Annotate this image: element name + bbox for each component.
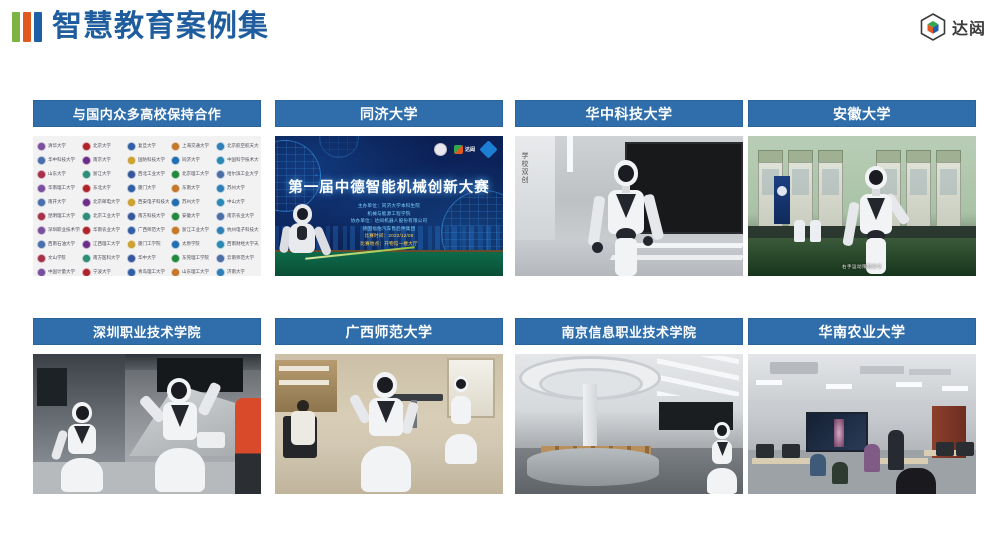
university-logo-item: 同济大学 bbox=[169, 153, 214, 167]
case-card-title: 华南农业大学 bbox=[748, 318, 976, 345]
large-display-screen bbox=[806, 412, 868, 452]
university-name: 苏州大学 bbox=[182, 196, 200, 207]
case-card-media: 学校双创 bbox=[515, 136, 743, 276]
atrium-with-robot-photo bbox=[515, 354, 743, 494]
ceiling-light bbox=[567, 136, 573, 172]
university-seal-icon bbox=[82, 254, 91, 263]
computer-monitor bbox=[936, 442, 954, 456]
university-name: 北京航空航天大学 bbox=[227, 140, 259, 151]
university-name: 江西理工大学 bbox=[93, 238, 120, 249]
university-logo-item: 南方医科大学 bbox=[80, 251, 125, 265]
university-name: 北京工业大学 bbox=[93, 210, 120, 221]
university-seal-icon bbox=[37, 170, 46, 179]
robot-in-corridor-photo: 学校双创 bbox=[515, 136, 743, 276]
computer-monitor bbox=[756, 444, 774, 458]
university-logo-item: 北京理工大学 bbox=[169, 167, 214, 181]
university-seal-icon bbox=[171, 170, 180, 179]
poster-detail-line: 德国福佑汽车售后件集团 bbox=[275, 225, 503, 233]
competition-poster: 达闼 第一届中德智能机械创新大赛 主办单位：同济大学本科生院机械与能源工程学院协… bbox=[275, 136, 503, 276]
university-name: 上海交通大学 bbox=[182, 140, 209, 151]
university-name: 广西师范大学 bbox=[138, 224, 165, 235]
ceiling-lights bbox=[657, 356, 739, 396]
university-name: 北京邮电大学 bbox=[93, 196, 120, 207]
university-logo-item: 西南财经大学天府学院 bbox=[214, 237, 259, 251]
university-seal-icon bbox=[37, 226, 46, 235]
university-logo-item: 山东理工大学 bbox=[169, 265, 214, 276]
university-name: 安徽大学 bbox=[182, 210, 200, 221]
university-name: 太原学院 bbox=[182, 238, 200, 249]
university-seal-icon bbox=[127, 184, 136, 193]
university-name: 哈尔滨工业大学 bbox=[227, 168, 258, 179]
university-name: 南京大学 bbox=[93, 154, 111, 165]
poster-detail-line: 主办单位：同济大学本科生院 bbox=[275, 202, 503, 210]
university-seal-icon bbox=[127, 268, 136, 277]
university-name: 华南农业大学 bbox=[93, 224, 120, 235]
university-seal-icon bbox=[37, 142, 46, 151]
university-seal-icon bbox=[216, 226, 225, 235]
case-card-title: 华中科技大学 bbox=[515, 100, 743, 127]
university-logo-item: 文山学院 bbox=[35, 251, 80, 265]
university-logo-item: 厦门工学院 bbox=[125, 237, 170, 251]
humanoid-robot-back bbox=[441, 374, 481, 474]
university-name: 西南石油大学 bbox=[48, 238, 75, 249]
university-name: 南方科技大学 bbox=[138, 210, 165, 221]
standing-person bbox=[888, 430, 904, 470]
seated-student bbox=[291, 400, 315, 446]
university-logo-item: 浙江工业大学 bbox=[169, 223, 214, 237]
case-card-media bbox=[748, 354, 976, 494]
university-logo-item: 杭州电子科技大学 bbox=[214, 223, 259, 237]
university-seal-icon bbox=[127, 142, 136, 151]
university-seal-icon bbox=[216, 184, 225, 193]
university-seal-icon bbox=[82, 156, 91, 165]
university-seal-icon bbox=[82, 212, 91, 221]
page-header: 智慧教育案例集 达闼 bbox=[0, 0, 1000, 55]
university-logo-item: 宁波大学 bbox=[80, 265, 125, 276]
university-logo-item: 苏州大学 bbox=[214, 181, 259, 195]
university-logo-item: 中国计量大学 bbox=[35, 265, 80, 276]
university-seal-icon bbox=[37, 184, 46, 193]
case-card-media: 达闼 第一届中德智能机械创新大赛 主办单位：同济大学本科生院机械与能源工程学院协… bbox=[275, 136, 503, 276]
university-seal-icon bbox=[127, 198, 136, 207]
lab-cabinet bbox=[936, 162, 961, 236]
university-logo-item: 南京农业大学 bbox=[214, 209, 259, 223]
university-seal-icon bbox=[82, 240, 91, 249]
university-logo-item: 国防科技大学 bbox=[125, 153, 170, 167]
wall-signage-text: 学校双创 bbox=[519, 152, 529, 184]
poster-sponsor-logos: 达闼 bbox=[434, 143, 495, 156]
university-logo-item: 华南理工大学 bbox=[35, 181, 80, 195]
university-logo-item: 西安电子科技大学 bbox=[125, 195, 170, 209]
humanoid-robot bbox=[705, 420, 739, 494]
university-logo-item: 青岛理工大学 bbox=[125, 265, 170, 276]
university-logo-item: 中山大学 bbox=[214, 195, 259, 209]
university-logo-item: 北京邮电大学 bbox=[80, 195, 125, 209]
university-seal-icon bbox=[171, 184, 180, 193]
university-logo-item: 清华大学 bbox=[35, 139, 80, 153]
university-seal-icon bbox=[127, 156, 136, 165]
university-name: 华中大学 bbox=[138, 252, 156, 263]
globe-graphic-icon bbox=[319, 136, 359, 158]
computer-monitor bbox=[956, 442, 974, 456]
poster-title: 第一届中德智能机械创新大赛 bbox=[275, 176, 503, 197]
university-logo-item: 苏州大学 bbox=[169, 195, 214, 209]
ceiling bbox=[748, 354, 976, 400]
university-name: 深圳职业技术学院 bbox=[48, 224, 80, 235]
university-name: 昆明理工大学 bbox=[48, 210, 75, 221]
page-title: 智慧教育案例集 bbox=[52, 7, 269, 47]
university-seal-icon bbox=[171, 142, 180, 151]
university-name: 同济大学 bbox=[182, 154, 200, 165]
university-name: 厦门大学 bbox=[138, 182, 156, 193]
case-card-media bbox=[515, 354, 743, 494]
university-logo-item: 昆明理工大学 bbox=[35, 209, 80, 223]
university-logo-item: 华中大学 bbox=[125, 251, 170, 265]
university-name: 宁波大学 bbox=[93, 266, 111, 276]
university-name: 清华大学 bbox=[48, 140, 66, 151]
university-logo-item: 广西师范大学 bbox=[125, 223, 170, 237]
university-seal-icon bbox=[216, 142, 225, 151]
case-card-tongji[interactable]: 同济大学 达闼 第一届中德智能机械创新大赛 主办单位 bbox=[275, 100, 503, 312]
university-name: 西北工业大学 bbox=[138, 168, 165, 179]
poster-detail-line: 机械与能源工程学院 bbox=[275, 210, 503, 218]
case-card-title: 同济大学 bbox=[275, 100, 503, 127]
university-logo-item: 浙江大学 bbox=[80, 167, 125, 181]
lab-cabinet bbox=[906, 162, 931, 236]
university-name: 云南师范大学 bbox=[227, 252, 254, 263]
university-logo-grid: 清华大学北京大学复旦大学上海交通大学北京航空航天大学华中科技大学南京大学国防科技… bbox=[33, 136, 261, 276]
student bbox=[864, 444, 880, 472]
case-card-partners[interactable]: 与国内众多高校保持合作 清华大学北京大学复旦大学上海交通大学北京航空航天大学华中… bbox=[33, 100, 261, 312]
university-seal-icon bbox=[37, 198, 46, 207]
university-name: 南方医科大学 bbox=[93, 252, 120, 263]
university-seal-icon bbox=[127, 170, 136, 179]
university-name: 东北大学 bbox=[93, 182, 111, 193]
university-name: 中国科学技术大学 bbox=[227, 154, 259, 165]
university-logo-item: 深圳职业技术学院 bbox=[35, 223, 80, 237]
person-in-red-shirt bbox=[235, 398, 261, 494]
university-name: 南开大学 bbox=[48, 196, 66, 207]
university-seal-icon bbox=[37, 240, 46, 249]
video-caption: 右手运动限制命令 bbox=[748, 264, 976, 270]
university-name: 西南财经大学天府学院 bbox=[227, 238, 259, 249]
university-logo-item: 南开大学 bbox=[35, 195, 80, 209]
university-logo-item: 北京航空航天大学 bbox=[214, 139, 259, 153]
university-logo-item: 西北工业大学 bbox=[125, 167, 170, 181]
university-seal-icon bbox=[171, 226, 180, 235]
university-name: 东南大学 bbox=[182, 182, 200, 193]
university-name: 中山大学 bbox=[227, 196, 245, 207]
university-seal-icon bbox=[127, 212, 136, 221]
university-seal-icon bbox=[127, 226, 136, 235]
university-logo-item: 太原学院 bbox=[169, 237, 214, 251]
university-logo-item: 华中科技大学 bbox=[35, 153, 80, 167]
university-logo-item: 中国科学技术大学 bbox=[214, 153, 259, 167]
university-name: 杭州电子科技大学 bbox=[227, 224, 259, 235]
brand-logo: 达闼 bbox=[920, 11, 986, 43]
university-name: 浙江大学 bbox=[93, 168, 111, 179]
university-seal-icon bbox=[37, 254, 46, 263]
university-seal-icon bbox=[216, 198, 225, 207]
university-name: 南京农业大学 bbox=[227, 210, 254, 221]
robot-in-lab-photo: 右手运动限制命令 bbox=[748, 136, 976, 276]
university-seal-icon bbox=[37, 268, 46, 277]
wall-poster bbox=[774, 176, 790, 224]
university-seal-icon bbox=[82, 184, 91, 193]
humanoid-robot-left bbox=[53, 400, 111, 492]
university-logo-item: 南京大学 bbox=[80, 153, 125, 167]
university-logo-item: 东莞理工学院 bbox=[169, 251, 214, 265]
university-name: 山东大学 bbox=[48, 168, 66, 179]
air-vent bbox=[770, 362, 818, 374]
university-seal-icon bbox=[127, 240, 136, 249]
university-seal-icon bbox=[171, 198, 180, 207]
university-seal-icon bbox=[216, 254, 225, 263]
university-seal-icon bbox=[216, 212, 225, 221]
university-logo-item: 云南师范大学 bbox=[214, 251, 259, 265]
university-logo-item: 安徽大学 bbox=[169, 209, 214, 223]
university-name: 苏州大学 bbox=[227, 182, 245, 193]
university-name: 济南大学 bbox=[227, 266, 245, 276]
university-name: 华中科技大学 bbox=[48, 154, 75, 165]
poster-detail-line: 比赛时间：2022/12/09 bbox=[275, 232, 503, 240]
university-name: 西安电子科技大学 bbox=[138, 196, 170, 207]
case-card-media: 清华大学北京大学复旦大学上海交通大学北京航空航天大学华中科技大学南京大学国防科技… bbox=[33, 136, 261, 276]
cloudminds-logo-icon: 达闼 bbox=[454, 145, 475, 154]
university-seal-icon bbox=[434, 143, 447, 156]
university-name: 中国计量大学 bbox=[48, 266, 75, 276]
humanoid-robot bbox=[591, 152, 661, 276]
ceiling-light-panel bbox=[756, 380, 782, 385]
university-logo-item: 厦门大学 bbox=[125, 181, 170, 195]
small-robot-toy bbox=[794, 220, 805, 242]
university-seal-icon bbox=[216, 240, 225, 249]
university-name: 东莞理工学院 bbox=[182, 252, 209, 263]
university-logo-item: 山东大学 bbox=[35, 167, 80, 181]
case-card-gxnu[interactable]: 广西师范大学 bbox=[275, 318, 503, 530]
university-logo-item: 江西理工大学 bbox=[80, 237, 125, 251]
university-name: 青岛理工大学 bbox=[138, 266, 165, 276]
university-seal-icon bbox=[127, 254, 136, 263]
robots-lab-with-student-photo bbox=[275, 354, 503, 494]
university-seal-icon bbox=[82, 198, 91, 207]
university-seal-icon bbox=[216, 170, 225, 179]
university-name: 华南理工大学 bbox=[48, 182, 75, 193]
university-logo-item: 济南大学 bbox=[214, 265, 259, 276]
university-logo-item: 复旦大学 bbox=[125, 139, 170, 153]
humanoid-robot bbox=[844, 162, 906, 274]
university-seal-icon bbox=[216, 156, 225, 165]
case-card-media bbox=[275, 354, 503, 494]
case-card-njcit[interactable]: 南京信息职业技术学院 bbox=[515, 318, 743, 530]
student-foreground bbox=[896, 468, 936, 494]
brand-logo-text: 达闼 bbox=[952, 15, 986, 39]
university-name: 国防科技大学 bbox=[138, 154, 165, 165]
classroom-demo-photo bbox=[748, 354, 976, 494]
university-logo-item: 东南大学 bbox=[169, 181, 214, 195]
university-name: 复旦大学 bbox=[138, 140, 156, 151]
university-logo-item: 北京工业大学 bbox=[80, 209, 125, 223]
gallery-row-1: 与国内众多高校保持合作 清华大学北京大学复旦大学上海交通大学北京航空航天大学华中… bbox=[0, 100, 1000, 312]
university-seal-icon bbox=[82, 170, 91, 179]
university-seal-icon bbox=[216, 268, 225, 277]
university-name: 山东理工大学 bbox=[182, 266, 209, 276]
university-logo-item: 西南石油大学 bbox=[35, 237, 80, 251]
computer-monitor bbox=[782, 444, 800, 458]
gallery-row-2: 深圳职业技术学院 bbox=[0, 318, 1000, 530]
university-name: 北京大学 bbox=[93, 140, 111, 151]
case-card-title: 广西师范大学 bbox=[275, 318, 503, 345]
lab-cabinet bbox=[818, 162, 843, 236]
university-name: 浙江工业大学 bbox=[182, 224, 209, 235]
poster-detail-line: 比赛地点：开物馆一楼大厅 bbox=[275, 240, 503, 248]
case-card-title: 安徽大学 bbox=[748, 100, 976, 127]
case-card-media: 右手运动限制命令 bbox=[748, 136, 976, 276]
university-seal-icon bbox=[171, 240, 180, 249]
partner-logo-icon bbox=[479, 140, 497, 158]
circular-counter bbox=[527, 448, 659, 486]
university-name: 文山学院 bbox=[48, 252, 66, 263]
student bbox=[810, 454, 826, 476]
university-seal-icon bbox=[37, 156, 46, 165]
university-seal-icon bbox=[171, 268, 180, 277]
university-logo-item: 上海交通大学 bbox=[169, 139, 214, 153]
university-seal-icon bbox=[171, 156, 180, 165]
case-card-title: 与国内众多高校保持合作 bbox=[33, 100, 261, 127]
case-card-scau[interactable]: 华南农业大学 bbox=[748, 318, 976, 530]
university-seal-icon bbox=[82, 268, 91, 277]
university-logo-item: 北京大学 bbox=[80, 139, 125, 153]
university-name: 厦门工学院 bbox=[138, 238, 160, 249]
case-card-title: 深圳职业技术学院 bbox=[33, 318, 261, 345]
university-name: 北京理工大学 bbox=[182, 168, 209, 179]
poster-details: 主办单位：同济大学本科生院机械与能源工程学院协办单位：达闼机器人股份有限公司德国… bbox=[275, 202, 503, 247]
hexagon-cube-logo-icon bbox=[920, 13, 946, 41]
case-card-hust[interactable]: 华中科技大学 学校双创 bbox=[515, 100, 743, 312]
humanoid-robot-front bbox=[351, 368, 421, 492]
university-logo-item: 南方科技大学 bbox=[125, 209, 170, 223]
university-logo-item: 华南农业大学 bbox=[80, 223, 125, 237]
humanoid-robot-right bbox=[143, 376, 217, 494]
case-card-szpt[interactable]: 深圳职业技术学院 bbox=[33, 318, 261, 530]
case-gallery: 与国内众多高校保持合作 清华大学北京大学复旦大学上海交通大学北京航空航天大学华中… bbox=[0, 55, 1000, 538]
case-card-media bbox=[33, 354, 261, 494]
university-seal-icon bbox=[37, 212, 46, 221]
poster-detail-line: 协办单位：达闼机器人股份有限公司 bbox=[275, 217, 503, 225]
university-seal-icon bbox=[171, 254, 180, 263]
university-seal-icon bbox=[82, 142, 91, 151]
case-card-title: 南京信息职业技术学院 bbox=[515, 318, 743, 345]
brand-accent-bars-icon bbox=[12, 11, 44, 43]
university-seal-icon bbox=[171, 212, 180, 221]
university-logo-item: 东北大学 bbox=[80, 181, 125, 195]
case-card-ahu[interactable]: 安徽大学 bbox=[748, 100, 976, 312]
two-robots-demo-photo bbox=[33, 354, 261, 494]
student bbox=[832, 462, 848, 484]
university-logo-item: 哈尔滨工业大学 bbox=[214, 167, 259, 181]
university-seal-icon bbox=[82, 226, 91, 235]
small-robot-toy bbox=[810, 220, 821, 242]
